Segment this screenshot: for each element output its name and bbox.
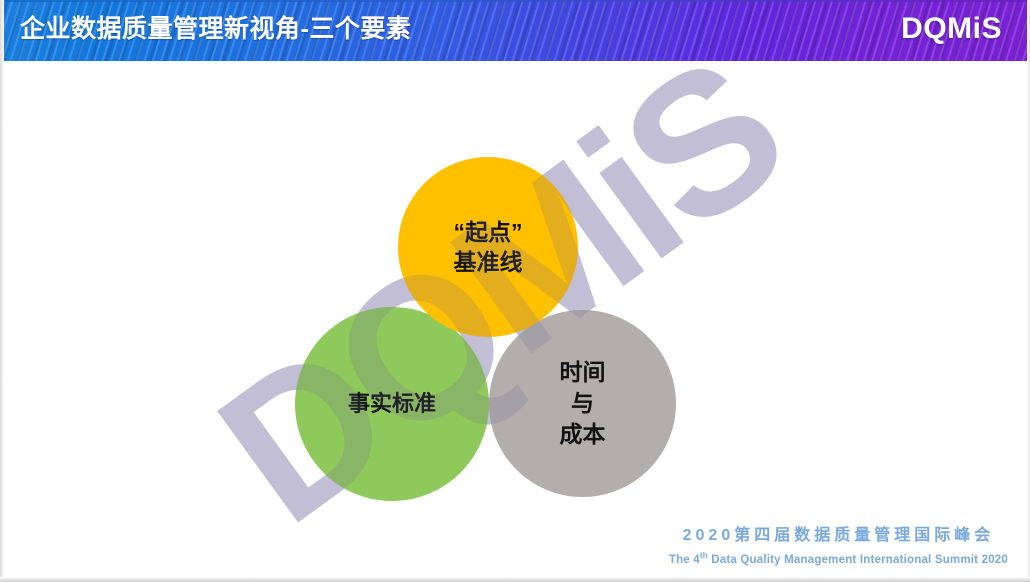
bubble-baseline-line2: 基准线 xyxy=(454,247,523,277)
footer-en-before: The 4 xyxy=(669,554,700,566)
bubble-baseline[interactable]: “起点” 基准线 xyxy=(398,157,578,337)
bubble-time-and-cost[interactable]: 时间 与 成本 xyxy=(489,310,676,497)
slide-body: DQMiS “起点” 基准线 事实标准 时间 与 成本 DQMiS 2 xyxy=(0,61,1030,582)
slide-title-bar: 企业数据质量管理新视角-三个要素 DQMiS xyxy=(0,0,1030,61)
bubble-time-and-cost-label: 时间 与 成本 xyxy=(560,357,606,450)
bubble-time-and-cost-line3: 成本 xyxy=(560,419,606,450)
footer-en-ordinal: th xyxy=(700,551,708,560)
title-bar-top-accent-line xyxy=(0,0,1030,2)
footer-title-en: The 4th Data Quality Management Internat… xyxy=(669,548,1008,568)
slide-canvas: 企业数据质量管理新视角-三个要素 DQMiS DQMiS “起点” 基准线 事实… xyxy=(0,0,1030,582)
page-title: 企业数据质量管理新视角-三个要素 xyxy=(20,14,411,45)
bubble-de-facto-standard-line1: 事实标准 xyxy=(348,390,436,418)
bubble-time-and-cost-line2: 与 xyxy=(560,388,606,419)
bubble-baseline-line1: “起点” xyxy=(454,217,523,247)
bubble-time-and-cost-line1: 时间 xyxy=(560,357,606,388)
slide-footer: 2020第四届数据质量管理国际峰会 The 4th Data Quality M… xyxy=(669,525,1008,568)
footer-title-cn: 2020第四届数据质量管理国际峰会 xyxy=(669,525,1008,547)
bubble-de-facto-standard[interactable]: 事实标准 xyxy=(295,307,489,501)
bubble-de-facto-standard-label: 事实标准 xyxy=(348,390,436,418)
bubble-baseline-label: “起点” 基准线 xyxy=(454,217,523,277)
dqmis-logo: DQMiS xyxy=(901,12,1002,46)
footer-en-after: Data Quality Management International Su… xyxy=(708,554,1008,566)
